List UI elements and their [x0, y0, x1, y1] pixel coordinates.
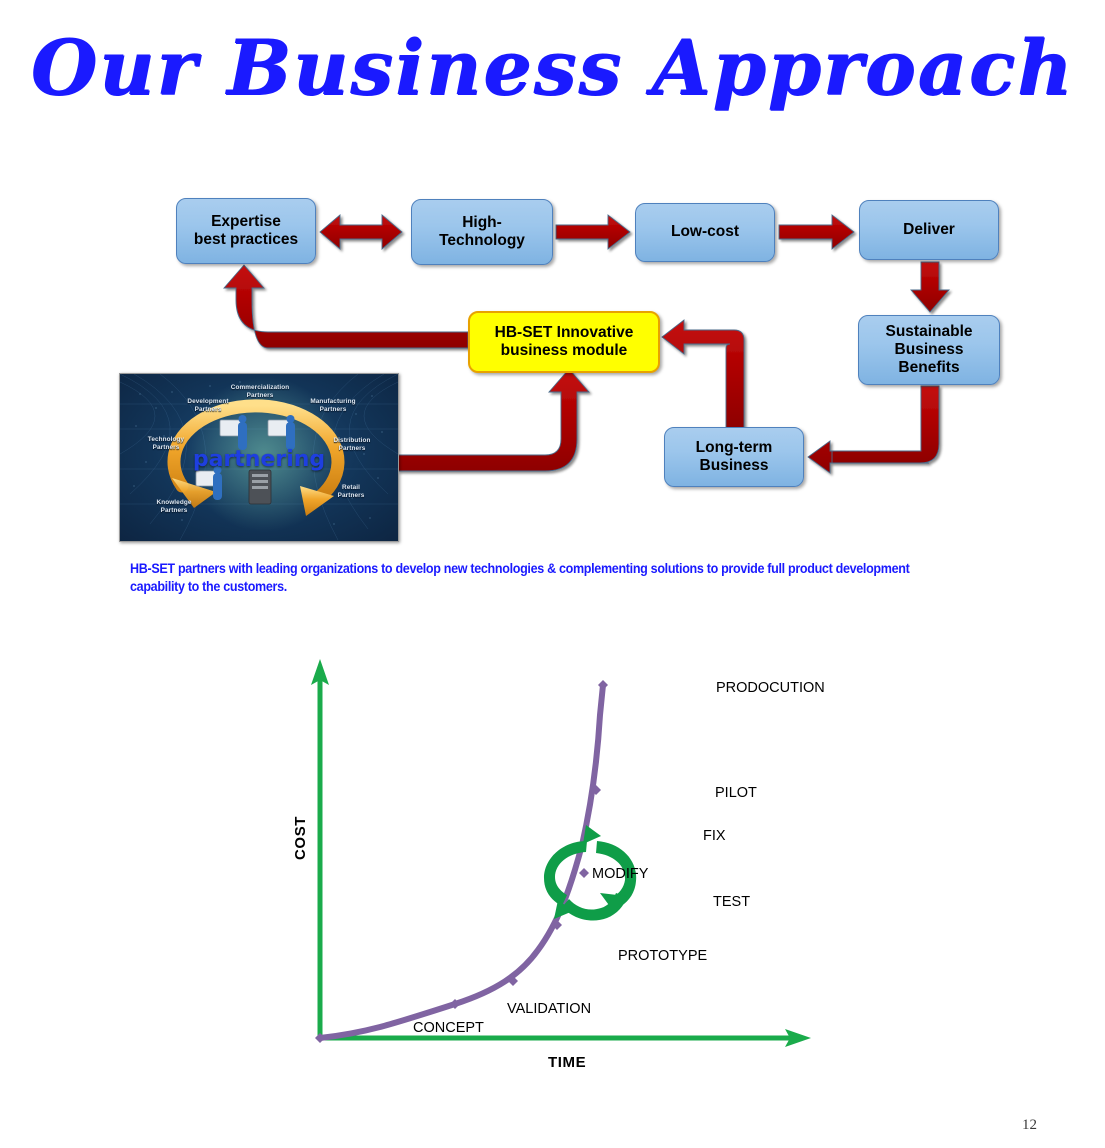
partnering-image: Commercialization Partners Development P… — [119, 373, 399, 542]
flow-box-hb-set-innovative-business-module[interactable]: HB-SET Innovative business module — [468, 311, 660, 373]
chart-xlabel-text: TIME — [544, 1054, 590, 1071]
flow-box-label: Low-cost — [671, 223, 739, 241]
flow-box-expertise[interactable]: Expertise best practices — [176, 198, 316, 264]
pic-label: Development Partners — [175, 398, 241, 414]
arrow-hightech-lowcost — [556, 215, 630, 249]
cost-time-chart: TIME COST TIME CONCEPT VALIDATION PROTOT… — [270, 645, 870, 1075]
arrow-picture-hbset — [398, 369, 589, 471]
flow-box-high-technology[interactable]: High- Technology — [411, 199, 553, 265]
chart-point-label-modify: MODIFY — [592, 866, 648, 882]
flow-box-label: Sustainable Business Benefits — [886, 323, 973, 378]
flow-box-long-term-business[interactable]: Long-term Business — [664, 427, 804, 487]
chart-point-label-fix: FIX — [703, 828, 726, 844]
pic-label: Retail Partners — [322, 484, 380, 500]
flow-box-label: Expertise best practices — [194, 213, 298, 250]
chart-point-label-test: TEST — [713, 894, 750, 910]
chart-point-label-validation: VALIDATION — [507, 1001, 591, 1017]
pic-label: Knowledge Partners — [142, 499, 206, 515]
chart-curve — [315, 680, 608, 1043]
arrow-expertise-hightech — [320, 215, 402, 249]
flow-box-sustainable-business-benefits[interactable]: Sustainable Business Benefits — [858, 315, 1000, 385]
chart-ylabel: COST — [292, 816, 309, 860]
arrow-deliver-sustainable — [911, 262, 949, 312]
chart-point-label-pilot: PILOT — [715, 785, 757, 801]
arrow-sustainable-longterm-body — [832, 386, 939, 463]
arrow-lowcost-deliver — [779, 215, 854, 249]
page-number: 12 — [1022, 1117, 1037, 1134]
pic-label: Manufacturing Partners — [300, 398, 366, 414]
chart-point-label-concept: CONCEPT — [413, 1020, 484, 1036]
flow-box-label: Long-term Business — [696, 439, 773, 476]
flow-box-label: High- Technology — [439, 214, 525, 251]
partnering-word: partnering — [120, 447, 398, 472]
flow-box-label: Deliver — [903, 221, 955, 239]
flow-box-low-cost[interactable]: Low-cost — [635, 203, 775, 262]
chart-point-label-prodocution: PRODOCUTION — [716, 680, 825, 696]
flow-box-deliver[interactable]: Deliver — [859, 200, 999, 260]
flow-box-label: HB-SET Innovative business module — [495, 324, 634, 361]
chart-point-label-prototype: PROTOTYPE — [618, 948, 707, 964]
